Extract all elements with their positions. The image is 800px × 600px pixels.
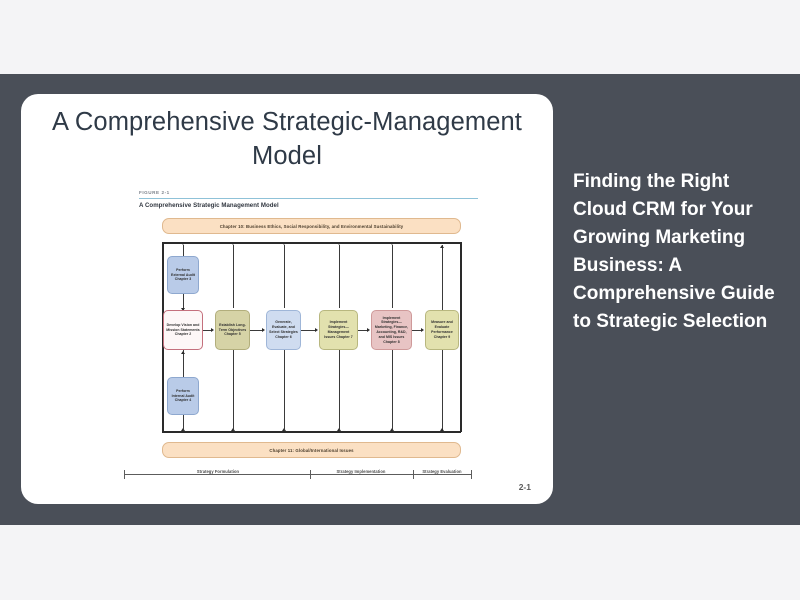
box-long-term-objectives: Establish Long-Term Objectives Chapter 5 [215,310,250,350]
box-implement-strategies-functional: Implement Strategies—Marketing, Finance,… [371,310,412,350]
phase-label-evaluation: Strategy Evaluation [418,469,466,475]
connector-measure-down [442,350,443,431]
phase-label-implementation: Strategy Implementation [323,469,399,475]
rise-line-implement-2 [392,350,393,431]
arrow-strategies-to-implement1 [315,328,318,332]
figure-label: FIGURE 2-1 [139,190,170,195]
arrow-measure-up [440,245,444,248]
drop-line-external-audit [183,245,184,256]
drop-line-strategies [284,245,285,308]
drop-line-implement-2 [392,245,393,308]
box-generate-select-strategies: Generate, Evaluate, and Select Strategie… [266,310,301,350]
rise-line-internal-audit [183,415,184,431]
slide-card: A Comprehensive Strategic-Management Mod… [21,94,553,504]
arrow-internal-to-vision [181,351,185,354]
arrow-objectives-to-strategies [262,328,265,332]
box-implement-strategies-management: Implement Strategies—Management Issues C… [319,310,358,350]
connector-measure-up [442,245,443,310]
arrow-vision-to-objectives [211,328,214,332]
rise-line-strategies [284,350,285,431]
article-heading: Finding the Right Cloud CRM for Your Gro… [573,168,778,337]
flow-strategies-to-implement1 [301,330,316,331]
bracket-tick-start [124,470,125,479]
feedback-rail-top [162,242,461,244]
arrow-measure-bottom [440,428,444,431]
bracket-tick-mid-1 [310,470,311,479]
rise-line-implement-1 [339,350,340,431]
slide-title: A Comprehensive Strategic-Management Mod… [21,106,553,174]
box-measure-evaluate-performance: Measure and Evaluate Performance Chapter… [425,310,459,350]
box-vision-mission: Develop Vision and Mission Statements Ch… [163,310,203,350]
drop-line-implement-1 [339,245,340,308]
feedback-rail-bottom [162,431,461,433]
drop-line-objectives [233,245,234,308]
figure-rule [139,198,478,200]
banner-global-issues: Chapter 11: Global/International Issues [162,442,461,458]
slide-number: 2-1 [519,482,531,492]
banner-business-ethics: Chapter 10: Business Ethics, Social Resp… [162,218,461,234]
phase-label-formulation: Strategy Formulation [180,469,256,475]
arrow-implement1-to-implement2 [367,328,370,332]
box-external-audit: Perform External Audit Chapter 3 [167,256,199,294]
figure-caption: A Comprehensive Strategic Management Mod… [139,202,279,209]
connector-internal-to-vision [183,350,184,377]
bracket-tick-end [471,470,472,479]
box-internal-audit: Perform Internal Audit Chapter 4 [167,377,199,415]
rise-line-objectives [233,350,234,431]
strategic-management-figure: FIGURE 2-1 A Comprehensive Strategic Man… [118,190,478,492]
feedback-rail-right [460,242,462,432]
arrow-implement2-to-measure [421,328,424,332]
bracket-tick-mid-2 [413,470,414,479]
page-root: A Comprehensive Strategic-Management Mod… [0,0,800,600]
